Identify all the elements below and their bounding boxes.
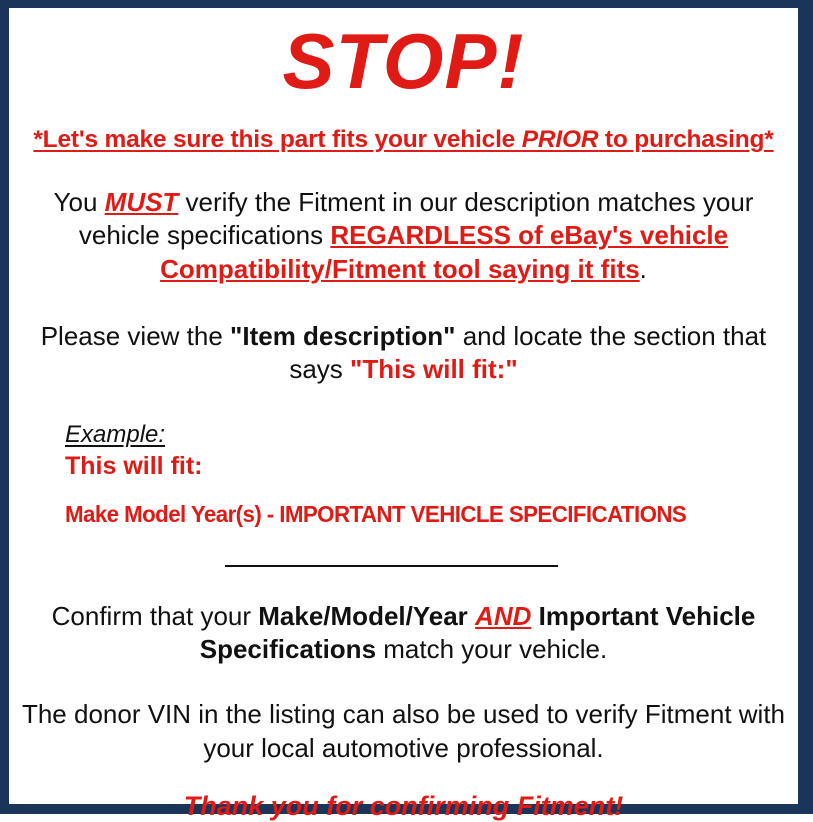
subtitle-text-before: *Let's make sure this part fits your veh… xyxy=(33,126,521,153)
example-label: Example: xyxy=(65,422,792,448)
emphasis-make-model-year: Make/Model/Year xyxy=(258,601,468,631)
must-text-3: . xyxy=(640,254,647,284)
emphasis-item-description: "Item description" xyxy=(230,321,455,351)
horizontal-rule-divider xyxy=(225,565,558,567)
emphasis-this-will-fit: "This will fit:" xyxy=(350,354,518,384)
page-title: STOP! xyxy=(15,22,792,100)
confirm-text-1: Confirm that your xyxy=(52,601,259,631)
must-text-1: You xyxy=(54,187,105,217)
example-spec-line: Make Model Year(s) - IMPORTANT VEHICLE S… xyxy=(65,501,770,528)
subtitle-emphasis-prior: PRIOR xyxy=(522,126,599,153)
subtitle-warning: *Let's make sure this part fits your veh… xyxy=(15,126,792,154)
thank-you-line: Thank you for confirming Fitment! xyxy=(15,791,792,822)
confirm-paragraph: Confirm that your Make/Model/Year AND Im… xyxy=(15,600,792,667)
example-block: Example: This will fit: Make Model Year(… xyxy=(15,422,792,527)
fitment-notice-frame: STOP! *Let's make sure this part fits yo… xyxy=(0,0,813,814)
emphasis-must: MUST xyxy=(105,187,179,217)
confirm-text-2: match your vehicle. xyxy=(376,634,607,664)
notice-body: STOP! *Let's make sure this part fits yo… xyxy=(9,22,798,818)
please-view-paragraph: Please view the "Item description" and l… xyxy=(15,320,792,387)
example-fit-heading: This will fit: xyxy=(65,451,792,481)
subtitle-text-after: to purchasing* xyxy=(598,126,773,153)
emphasis-and: AND xyxy=(475,601,531,631)
must-verify-paragraph: You MUST verify the Fitment in our descr… xyxy=(15,186,792,286)
vin-paragraph: The donor VIN in the listing can also be… xyxy=(15,698,792,765)
divider-wrap xyxy=(15,554,792,572)
please-text-1: Please view the xyxy=(41,321,230,351)
